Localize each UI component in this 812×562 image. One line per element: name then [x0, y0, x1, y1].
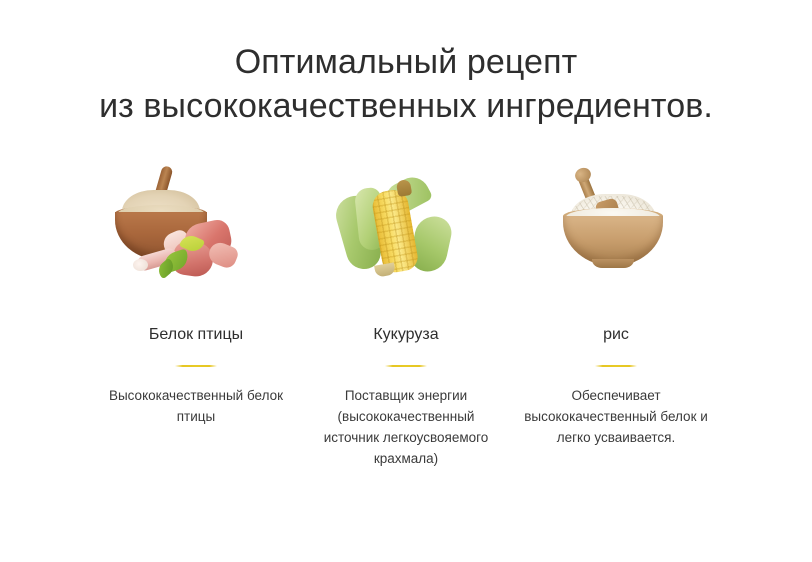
rice-bowl-icon: [521, 160, 711, 292]
bowl-foot-icon: [592, 259, 634, 268]
corn-icon: [311, 160, 501, 292]
gold-divider: [385, 365, 427, 367]
wooden-scoop-knob-icon: [573, 166, 593, 185]
ingredient-card-rice: рис Обеспечивает высококачественный бело…: [513, 160, 719, 448]
ingredient-description-poultry: Высококачественный белок птицы: [101, 385, 291, 427]
ingredient-description-corn: Поставщик энергии (высококачественный ис…: [311, 385, 501, 469]
ingredients-section: Оптимальный рецепт из высококачественных…: [0, 0, 812, 562]
page-title: Оптимальный рецепт из высококачественных…: [0, 40, 812, 128]
drumstick-bone-icon: [133, 259, 148, 271]
gold-divider: [595, 365, 637, 367]
ingredient-card-poultry: Белок птицы Высококачественный белок пти…: [93, 160, 299, 427]
page-title-line-2: из высококачественных ингредиентов.: [0, 84, 812, 128]
poultry-bowl-icon: [101, 160, 291, 292]
corn-cob-stalk-icon: [374, 262, 396, 277]
ingredient-heading-poultry: Белок птицы: [149, 324, 243, 346]
ingredient-card-corn: Кукуруза Поставщик энергии (высококачест…: [303, 160, 509, 469]
ingredient-heading-corn: Кукуруза: [373, 324, 438, 346]
gold-divider: [175, 365, 217, 367]
page-title-line-1: Оптимальный рецепт: [0, 40, 812, 84]
ingredient-heading-rice: рис: [603, 324, 629, 346]
ingredient-columns: Белок птицы Высококачественный белок пти…: [0, 160, 812, 469]
ingredient-description-rice: Обеспечивает высококачественный белок и …: [521, 385, 711, 448]
